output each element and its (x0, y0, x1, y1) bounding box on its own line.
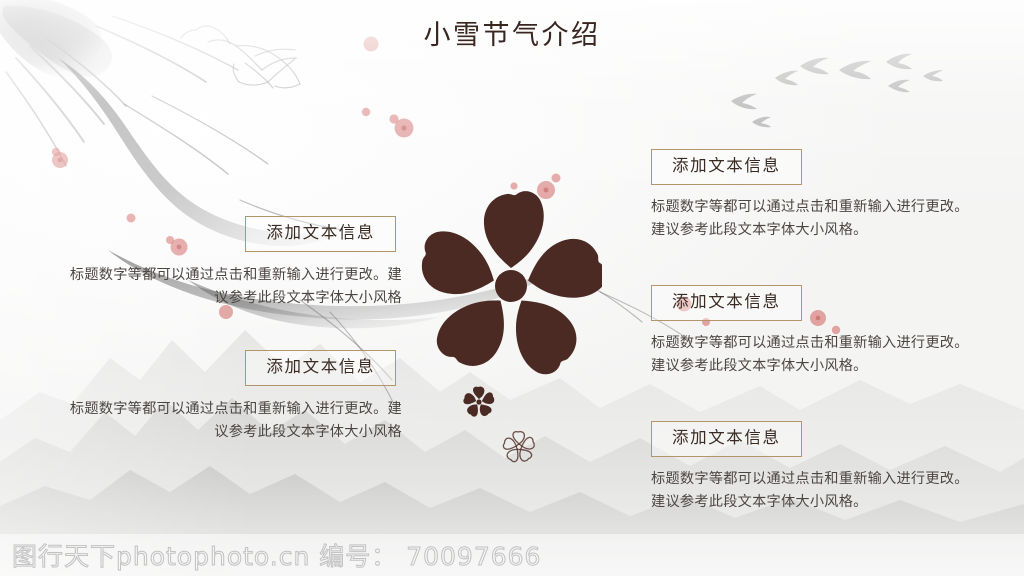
content-block-left-1: 添加文本信息 标题数字等都可以通过点击和重新输入进行更改。建议参考此段文本字体大… (62, 216, 402, 310)
content-block-right-2: 添加文本信息 标题数字等都可以通过点击和重新输入进行更改。建议参考此段文本字体大… (651, 285, 981, 378)
watermark-text: 图行天下photophoto.cn 编号： 70097666 (0, 537, 541, 573)
text-label-box-left-1[interactable]: 添加文本信息 (245, 216, 396, 252)
body-text-left-2: 标题数字等都可以通过点击和重新输入进行更改。建议参考此段文本字体大小风格 (62, 398, 402, 444)
text-label-box-right-2[interactable]: 添加文本信息 (651, 285, 802, 321)
body-text-right-2: 标题数字等都可以通过点击和重新输入进行更改。建议参考此段文本字体大小风格。 (651, 332, 981, 378)
content-block-right-1: 添加文本信息 标题数字等都可以通过点击和重新输入进行更改。建议参考此段文本字体大… (651, 149, 981, 242)
small-sakura-outline-icon (502, 430, 536, 464)
text-label-box-right-1[interactable]: 添加文本信息 (651, 149, 802, 185)
body-text-right-3: 标题数字等都可以通过点击和重新输入进行更改。建议参考此段文本字体大小风格。 (651, 468, 981, 514)
content-block-left-2: 添加文本信息 标题数字等都可以通过点击和重新输入进行更改。建议参考此段文本字体大… (62, 350, 402, 444)
body-text-right-1: 标题数字等都可以通过点击和重新输入进行更改。建议参考此段文本字体大小风格。 (651, 196, 981, 242)
content-block-right-3: 添加文本信息 标题数字等都可以通过点击和重新输入进行更改。建议参考此段文本字体大… (651, 421, 981, 514)
text-label-box-left-2[interactable]: 添加文本信息 (245, 350, 396, 386)
watermark-bar: 图行天下photophoto.cn 编号： 70097666 (0, 534, 1024, 576)
sakura-flower-icon (420, 186, 602, 386)
page-title: 小雪节气介绍 (0, 13, 1024, 52)
body-text-left-1: 标题数字等都可以通过点击和重新输入进行更改。建议参考此段文本字体大小风格 (62, 264, 402, 310)
slide-canvas: 小雪节气介绍 添加文本信息 标题数字等都可以通过点击和重新输入进行更改。建议参考… (0, 0, 1024, 576)
text-label-box-right-3[interactable]: 添加文本信息 (651, 421, 802, 457)
small-sakura-filled-icon (462, 385, 496, 419)
